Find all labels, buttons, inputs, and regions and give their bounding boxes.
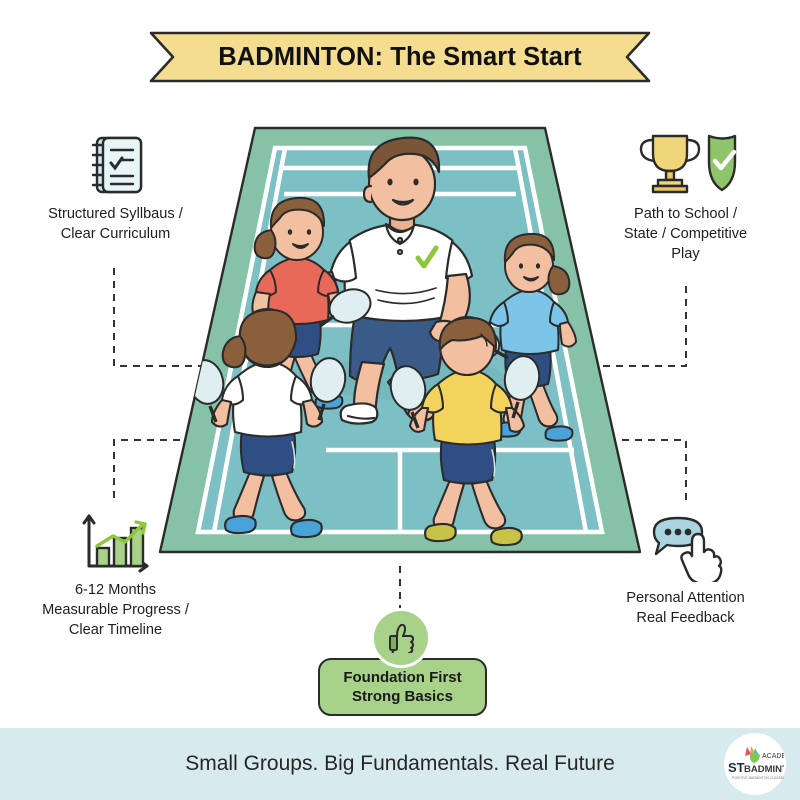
feature-caption: Personal Attention Real Feedback [578,588,793,628]
notebook-checklist-icon [8,132,223,198]
feature-caption: 6-12 Months Measurable Progress / Clear … [8,580,223,640]
feature-structured-syllabus: Structured Syllbaus / Clear Curriculum [8,132,223,244]
center-badge: Foundation First Strong Basics [318,608,483,712]
feature-caption: Structured Syllbaus / Clear Curriculum [8,204,223,244]
feature-measurable-progress: 6-12 Months Measurable Progress / Clear … [8,512,223,640]
center-badge-label: Foundation First Strong Basics [343,668,461,706]
svg-text:BADMINTON: BADMINTON [744,764,784,775]
growth-bar-chart-icon [8,512,223,574]
footer-tagline: Small Groups. Big Fundamentals. Real Fut… [0,752,800,776]
svg-text:ST: ST [728,760,745,775]
feature-personal-attention: Personal Attention Real Feedback [578,512,793,628]
thumbs-up-icon [371,608,431,668]
footer-bar: Small Groups. Big Fundamentals. Real Fut… [0,728,800,800]
svg-text:ACADEMY: ACADEMY [762,753,784,760]
speech-bubble-hand-icon [578,512,793,582]
feature-caption: Path to School / State / Competitive Pla… [578,204,793,264]
trophy-shield-icon [578,128,793,198]
page-title: BADMINTON: The Smart Start [149,31,651,83]
infographic-canvas: BADMINTON: The Smart Start [0,0,800,800]
feature-competitive-path: Path to School / State / Competitive Pla… [578,128,793,264]
court-illustration [150,120,650,580]
title-banner: BADMINTON: The Smart Start [149,31,651,83]
svg-text:POSITIVE BADMINTON CLASSES FOR: POSITIVE BADMINTON CLASSES FOR KIDS [732,776,784,780]
brand-logo: ACADEMY ST BADMINTON POSITIVE BADMINTON … [724,733,786,795]
shuttlecock-logo-icon [745,746,760,763]
court-scene-svg [150,120,650,580]
